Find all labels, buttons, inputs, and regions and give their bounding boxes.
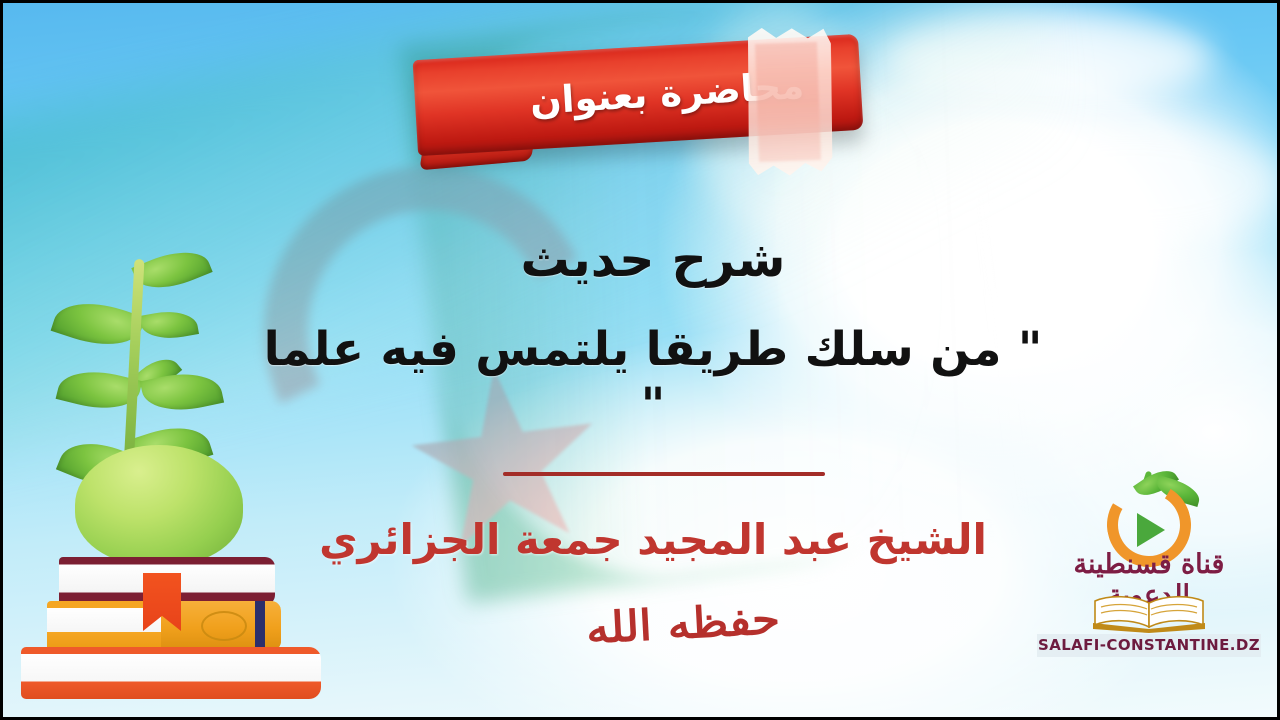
channel-logo: قناة قسنطينة الدعوية SALAFI-CONSTANTINE.… <box>1031 471 1267 681</box>
books-and-sprout-illustration <box>3 247 343 717</box>
book-bottom <box>21 647 321 699</box>
book-middle-band <box>255 601 265 651</box>
leaf-icon <box>139 306 199 343</box>
apple-icon <box>75 445 243 565</box>
title-block: شرح حديث " من سلك طريقا يلتمس فيه علما " <box>253 231 1053 435</box>
torn-tape-shadow <box>755 42 821 162</box>
header-ribbon: محاضرة بعنوان <box>409 21 869 171</box>
lecture-title: شرح حديث <box>253 231 1053 289</box>
slide-canvas: محاضرة بعنوان شرح حديث " من سلك طريقا يل… <box>0 0 1280 720</box>
logo-website-url: SALAFI-CONSTANTINE.DZ <box>1037 634 1261 657</box>
open-book-icon <box>1089 593 1209 633</box>
hadith-quote: " من سلك طريقا يلتمس فيه علما " <box>253 322 1053 435</box>
speaker-name: الشيخ عبد المجيد جمعة الجزائري <box>263 515 1043 564</box>
play-icon <box>1137 513 1165 547</box>
title-divider <box>503 472 825 476</box>
book-middle-motif <box>201 611 247 641</box>
